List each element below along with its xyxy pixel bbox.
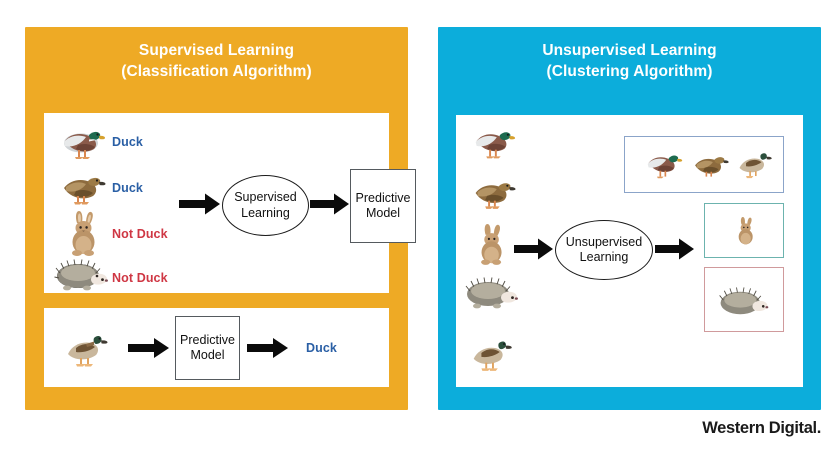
animal-female-duck [54, 168, 106, 211]
training-label-2: Duck [112, 181, 143, 195]
predictive-model-line1: Predictive [356, 191, 411, 205]
supervised-node-line2: Learning [241, 206, 290, 220]
input-animal-mallard-duck [468, 123, 516, 166]
arrow-to-clusters [655, 237, 695, 261]
training-label-4: Not Duck [112, 271, 168, 285]
supervised-training-card: Duck Duck [44, 113, 389, 293]
arrow-to-predictive-model [310, 192, 350, 216]
cluster-hedgehog [704, 267, 784, 332]
supervised-title-line2: (Classification Algorithm) [25, 62, 408, 83]
cluster-birds [624, 136, 784, 193]
arrow-model-to-output [247, 337, 289, 359]
animal-hedgehog [54, 259, 110, 296]
unsupervised-panel-title: Unsupervised Learning (Clustering Algori… [438, 41, 821, 83]
input-animal-rabbit [472, 221, 512, 272]
slide-canvas: Supervised Learning (Classification Algo… [0, 0, 835, 451]
supervised-node-line1: Supervised [234, 190, 297, 204]
arrow-to-supervised-node [179, 192, 221, 216]
arrow-input-to-model [128, 337, 170, 359]
supervised-learning-panel: Supervised Learning (Classification Algo… [25, 27, 408, 410]
logo-text: Western Digital [702, 419, 817, 437]
inference-output-label: Duck [306, 341, 337, 355]
inference-model-line1: Predictive [180, 333, 235, 347]
inference-model-line2: Model [190, 348, 224, 362]
logo-trademark: . [817, 419, 821, 437]
cluster-animal-hedgehog [717, 287, 771, 322]
input-animal-female-duck [466, 173, 516, 216]
unsupervised-title-line2: (Clustering Algorithm) [438, 62, 821, 83]
unsupervised-content-card: Unsupervised Learning [456, 115, 803, 387]
training-label-3: Not Duck [112, 227, 168, 241]
predictive-model-box-training: Predictive Model [350, 169, 416, 243]
unsupervised-title-line1: Unsupervised Learning [542, 42, 716, 59]
cluster-animal-female-duck [687, 148, 729, 186]
supervised-inference-card: Predictive Model Duck [44, 308, 389, 387]
cluster-animal-duck-walking [733, 145, 777, 186]
animal-duck-walking-inference [60, 328, 114, 373]
western-digital-logo: Western Digital. [702, 419, 821, 438]
predictive-model-line2: Model [366, 206, 400, 220]
supervised-learning-node: Supervised Learning [222, 175, 309, 236]
animal-mallard-duck [56, 123, 106, 166]
cluster-rabbit [704, 203, 784, 258]
unsupervised-node-line1: Unsupervised [566, 235, 642, 249]
arrow-to-unsupervised-node [514, 237, 554, 261]
cluster-animal-rabbit [732, 210, 760, 257]
supervised-title-line1: Supervised Learning [139, 42, 294, 59]
training-label-1: Duck [112, 135, 143, 149]
unsupervised-learning-panel: Unsupervised Learning (Clustering Algori… [438, 27, 821, 410]
unsupervised-learning-node: Unsupervised Learning [555, 220, 653, 280]
predictive-model-box-inference: Predictive Model [175, 316, 240, 380]
input-animal-duck-walking [466, 333, 518, 378]
cluster-animal-mallard-duck [641, 147, 683, 186]
supervised-panel-title: Supervised Learning (Classification Algo… [25, 41, 408, 83]
animal-rabbit [62, 209, 106, 262]
unsupervised-node-line2: Learning [580, 250, 629, 264]
input-animal-hedgehog [464, 277, 520, 314]
